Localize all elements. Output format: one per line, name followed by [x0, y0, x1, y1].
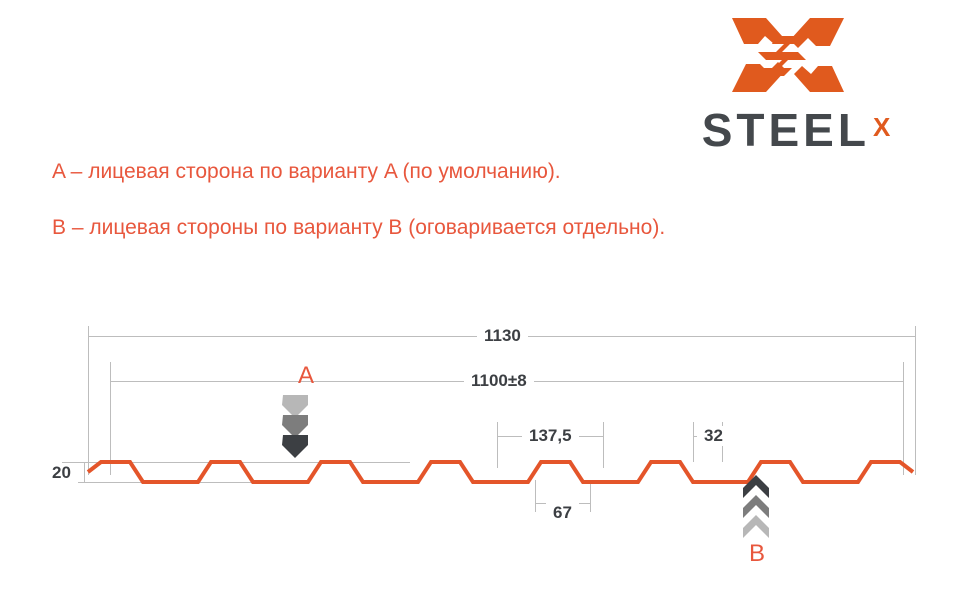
- corrugated-profile-line: [88, 462, 913, 482]
- marker-label-a: A: [298, 362, 314, 390]
- profile-drawing: 1130 1100±8 137,5 32 67 20 A B: [0, 290, 970, 597]
- dimension-valley: 67: [546, 503, 579, 523]
- x-logo-icon: [732, 14, 844, 96]
- brand-logo: STEEL X: [676, 14, 916, 144]
- dimension-useful-width: 1100±8: [464, 371, 534, 391]
- legend-line-a: A – лицевая сторона по варианту A (по ум…: [52, 160, 561, 184]
- marker-b-chevrons: [743, 475, 769, 538]
- dimension-height: 20: [45, 463, 78, 483]
- legend-line-b: B – лицевая стороны по варианту B (огова…: [52, 216, 665, 240]
- marker-a-chevrons: [282, 395, 308, 458]
- drawing-page: STEEL X A – лицевая сторона по варианту …: [0, 0, 970, 597]
- brand-suffix: X: [873, 114, 890, 140]
- dimension-pitch: 137,5: [522, 426, 579, 446]
- brand-name: STEEL: [702, 107, 870, 153]
- marker-label-b: B: [749, 540, 765, 568]
- dimension-rib-top: 32: [697, 426, 730, 446]
- dimension-overall-width: 1130: [477, 326, 528, 346]
- brand-wordmark: STEEL X: [676, 107, 916, 149]
- dimension-lines: [62, 326, 916, 512]
